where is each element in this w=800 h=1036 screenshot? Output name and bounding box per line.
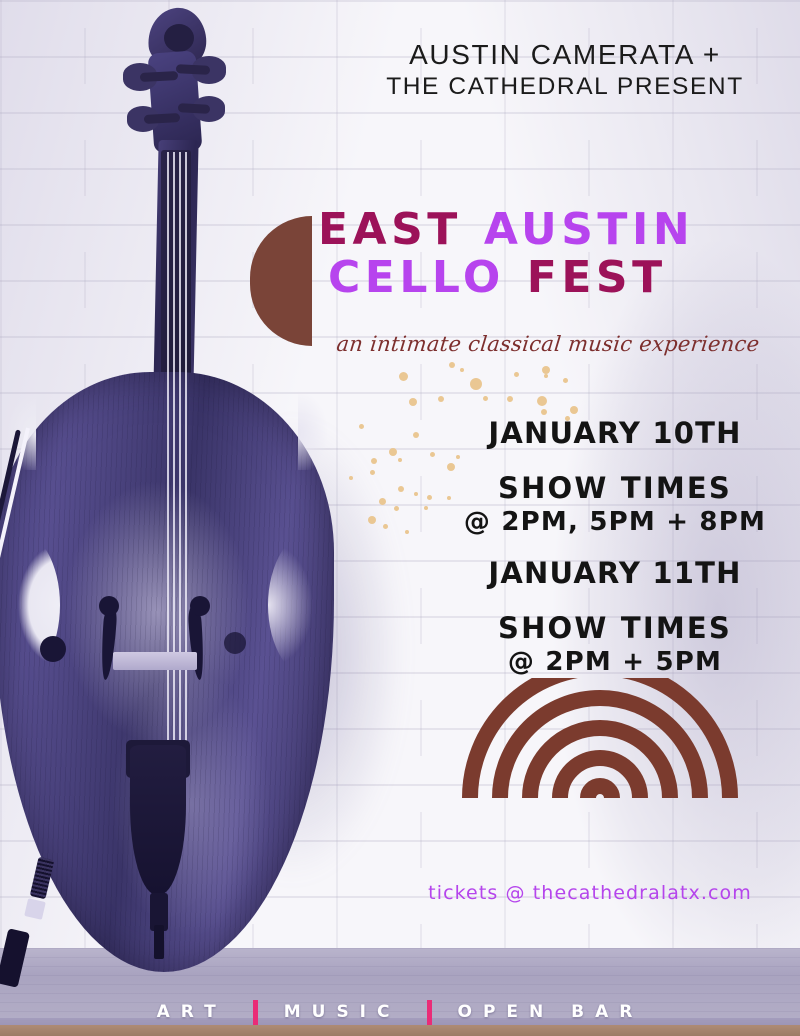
title-word-cello: CELLO — [328, 252, 505, 303]
footer-item-open-bar: OPEN BAR — [432, 1002, 670, 1022]
cello-upper-bout-left — [0, 380, 36, 470]
showtimes-label-2: SHOW TIMES — [440, 611, 790, 645]
date-label-2: JANUARY 11TH — [440, 556, 790, 590]
cello-peg-shaft-3 — [144, 113, 180, 124]
title-word-fest: FEST — [527, 252, 667, 303]
cello-bridge — [113, 652, 197, 670]
cello-f-hole-dot-left-top — [99, 596, 119, 616]
presenter-line-1: AUSTIN CAMERATA + — [350, 38, 780, 72]
presenter-line-2: THE CATHEDRAL PRESENT — [350, 72, 780, 102]
cello-waist-right — [268, 530, 360, 680]
footer-item-music: MUSIC — [258, 1002, 427, 1022]
arc-ring-1 — [588, 786, 612, 798]
footer-item-art: ART — [131, 1002, 253, 1022]
title-word-austin: AUSTIN — [484, 204, 694, 255]
bow-frog — [0, 928, 30, 988]
page-title: EASTAUSTIN CELLOFEST — [318, 206, 788, 301]
tickets-link[interactable]: tickets @ thecathedralatx.com — [380, 882, 800, 904]
cello-peg-shaft-2 — [176, 64, 210, 75]
bow-winding — [24, 898, 46, 920]
cello-peg-shaft-4 — [178, 103, 210, 114]
concentric-arcs-ornament — [462, 678, 738, 798]
showtimes-label-1: SHOW TIMES — [440, 471, 790, 505]
date-label-1: JANUARY 10TH — [440, 416, 790, 450]
cello-f-hole-dot-lower-right — [224, 632, 246, 654]
cello-upper-bout-right — [298, 376, 354, 470]
footer-bar: ART MUSIC OPEN BAR — [0, 988, 800, 1036]
arcs-svg — [462, 678, 738, 798]
title-word-east: EAST — [318, 204, 462, 255]
cello-scroll-spiral — [164, 24, 194, 52]
poster-canvas: AUSTIN CAMERATA + THE CATHEDRAL PRESENT … — [0, 0, 800, 1036]
presenter-block: AUSTIN CAMERATA + THE CATHEDRAL PRESENT — [350, 38, 780, 102]
cello-illustration — [0, 0, 400, 1010]
showtimes-value-2: @ 2PM + 5PM — [440, 647, 790, 677]
cello-endpin — [154, 925, 164, 959]
date-block-january-10: JANUARY 10TH SHOW TIMES @ 2PM, 5PM + 8PM — [440, 416, 790, 537]
showtimes-value-1: @ 2PM, 5PM + 8PM — [440, 507, 790, 537]
cello-f-hole-dot-lower-left — [40, 636, 66, 662]
tagline: an intimate classical music experience — [317, 332, 780, 356]
cello-f-hole-dot-right-top — [190, 596, 210, 616]
date-block-january-11: JANUARY 11TH SHOW TIMES @ 2PM + 5PM — [440, 556, 790, 677]
